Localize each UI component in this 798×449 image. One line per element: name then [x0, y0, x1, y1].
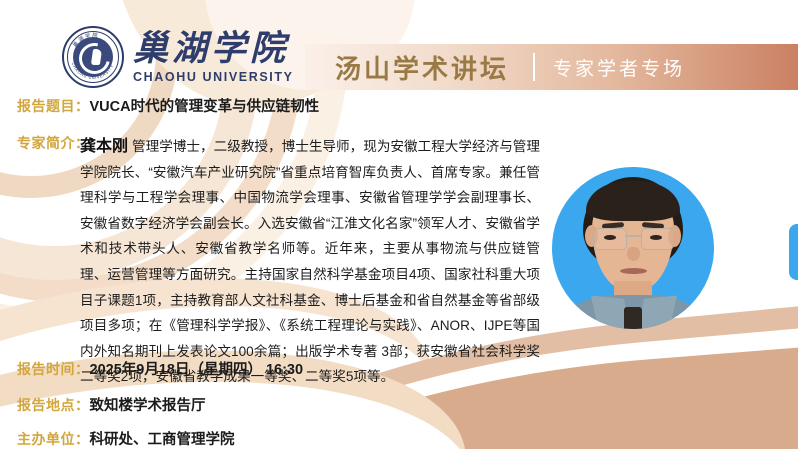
seminar-poster: 巢湖学院 CHAOHU UNIVERSITY 巢湖学院 CHAOHU UNIVE…: [0, 0, 798, 449]
talk-place-label: 报告地点：: [17, 395, 90, 415]
talk-place-row: 报告地点： 致知楼学术报告厅: [17, 394, 206, 415]
talk-time-value: 2025年9月18日（星期四） 16:30: [90, 358, 304, 379]
talk-place-value: 致知楼学术报告厅: [90, 394, 206, 415]
speaker-name: 龚本刚: [80, 138, 128, 155]
portrait-nose: [627, 247, 640, 261]
talk-title-label: 报告题目：: [17, 96, 90, 116]
glasses-bridge: [625, 235, 641, 237]
portrait-tie: [624, 307, 642, 329]
talk-host-label: 主办单位：: [17, 429, 90, 449]
talk-title-value: VUCA时代的管理变革与供应链韧性: [90, 95, 320, 116]
talk-host-value: 科研处、工商管理学院: [90, 428, 235, 449]
speaker-bio-row: 专家简介：: [17, 133, 90, 153]
portrait-mouth: [620, 268, 647, 274]
portrait-fringe: [586, 181, 680, 221]
speaker-portrait: [552, 167, 714, 329]
talk-time-row: 报告时间： 2025年9月18日（星期四） 16:30: [17, 358, 303, 379]
portrait-glasses: [592, 228, 674, 249]
poster-content: 报告题目： VUCA时代的管理变革与供应链韧性 专家简介： 龚本刚管理学博士，二…: [0, 0, 798, 449]
speaker-bio-body: 龚本刚管理学博士，二级教授，博士生导师，现为安徽工程大学经济与管理学院院长、“安…: [80, 134, 540, 390]
talk-time-label: 报告时间：: [17, 359, 90, 379]
talk-host-row: 主办单位： 科研处、工商管理学院: [17, 428, 235, 449]
glasses-lens-left: [594, 228, 627, 250]
speaker-bio-text: 管理学博士，二级教授，博士生导师，现为安徽工程大学经济与管理学院院长、“安徽汽车…: [80, 139, 540, 384]
talk-title-row: 报告题目： VUCA时代的管理变革与供应链韧性: [17, 95, 319, 116]
glasses-lens-right: [641, 228, 674, 250]
speaker-bio-label: 专家简介：: [17, 133, 90, 153]
